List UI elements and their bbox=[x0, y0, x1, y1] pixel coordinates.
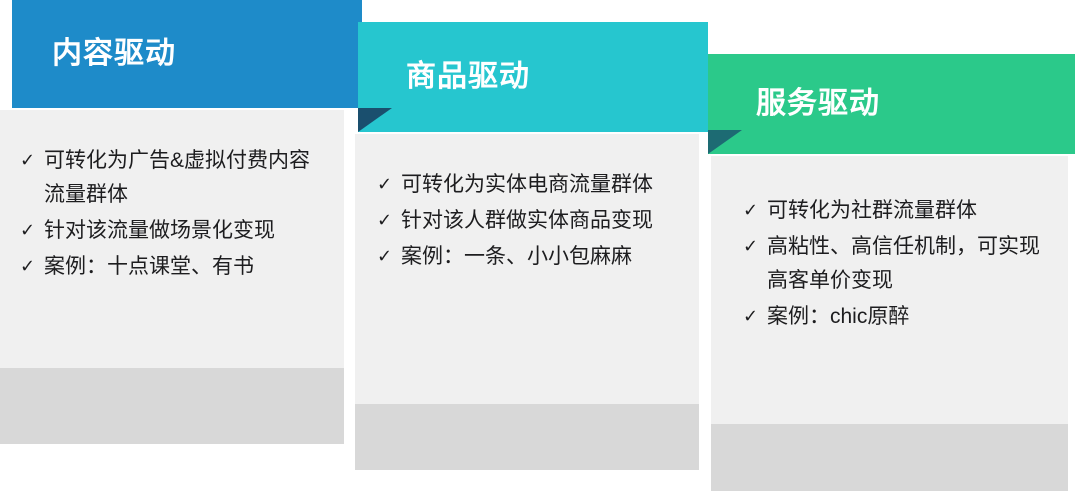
list-item: ✓ 可转化为广告&虚拟付费内容流量群体 bbox=[20, 144, 318, 212]
column-header-content-driven: 内容驱动 bbox=[12, 0, 362, 108]
column-title-product-driven: 商品驱动 bbox=[406, 62, 530, 92]
bullet-text: 可转化为社群流量群体 bbox=[767, 194, 1046, 228]
column-footer-service-driven bbox=[711, 424, 1068, 491]
column-footer-product-driven bbox=[355, 404, 699, 470]
bullet-text: 可转化为广告&虚拟付费内容流量群体 bbox=[44, 144, 318, 212]
check-icon: ✓ bbox=[377, 204, 401, 237]
bullet-text: 高粘性、高信任机制，可实现高客单价变现 bbox=[767, 230, 1046, 298]
list-item: ✓ 可转化为实体电商流量群体 bbox=[377, 168, 677, 202]
list-item: ✓ 高粘性、高信任机制，可实现高客单价变现 bbox=[743, 230, 1046, 298]
check-icon: ✓ bbox=[20, 214, 44, 247]
bullet-text: 案例：chic原醉 bbox=[767, 300, 1046, 334]
header-fold-shadow-service-driven bbox=[708, 130, 742, 154]
bullet-list-content-driven: ✓ 可转化为广告&虚拟付费内容流量群体 ✓ 针对该流量做场景化变现 ✓ 案例：十… bbox=[20, 144, 318, 284]
column-body-product-driven: ✓ 可转化为实体电商流量群体 ✓ 针对该人群做实体商品变现 ✓ 案例：一条、小小… bbox=[355, 134, 699, 404]
check-icon: ✓ bbox=[743, 230, 767, 263]
list-item: ✓ 针对该流量做场景化变现 bbox=[20, 214, 318, 248]
check-icon: ✓ bbox=[20, 250, 44, 283]
check-icon: ✓ bbox=[377, 240, 401, 273]
list-item: ✓ 案例：chic原醉 bbox=[743, 300, 1046, 334]
column-title-content-driven: 内容驱动 bbox=[52, 39, 176, 69]
column-footer-content-driven bbox=[0, 368, 344, 444]
check-icon: ✓ bbox=[743, 194, 767, 227]
column-title-service-driven: 服务驱动 bbox=[756, 89, 880, 119]
column-header-service-driven: 服务驱动 bbox=[708, 54, 1075, 154]
bullet-text: 可转化为实体电商流量群体 bbox=[401, 168, 677, 202]
bullet-list-service-driven: ✓ 可转化为社群流量群体 ✓ 高粘性、高信任机制，可实现高客单价变现 ✓ 案例：… bbox=[743, 194, 1046, 334]
list-item: ✓ 针对该人群做实体商品变现 bbox=[377, 204, 677, 238]
bullet-text: 针对该流量做场景化变现 bbox=[44, 214, 318, 248]
column-header-product-driven: 商品驱动 bbox=[358, 22, 708, 132]
slide-canvas: 内容驱动 ✓ 可转化为广告&虚拟付费内容流量群体 ✓ 针对该流量做场景化变现 ✓… bbox=[0, 0, 1080, 491]
bullet-text: 案例：十点课堂、有书 bbox=[44, 250, 318, 284]
list-item: ✓ 案例：十点课堂、有书 bbox=[20, 250, 318, 284]
bullet-text: 案例：一条、小小包麻麻 bbox=[401, 240, 677, 274]
list-item: ✓ 可转化为社群流量群体 bbox=[743, 194, 1046, 228]
check-icon: ✓ bbox=[20, 144, 44, 177]
header-fold-shadow-product-driven bbox=[358, 108, 392, 132]
check-icon: ✓ bbox=[743, 300, 767, 333]
bullet-list-product-driven: ✓ 可转化为实体电商流量群体 ✓ 针对该人群做实体商品变现 ✓ 案例：一条、小小… bbox=[377, 168, 677, 274]
column-body-content-driven: ✓ 可转化为广告&虚拟付费内容流量群体 ✓ 针对该流量做场景化变现 ✓ 案例：十… bbox=[0, 110, 344, 368]
list-item: ✓ 案例：一条、小小包麻麻 bbox=[377, 240, 677, 274]
column-body-service-driven: ✓ 可转化为社群流量群体 ✓ 高粘性、高信任机制，可实现高客单价变现 ✓ 案例：… bbox=[711, 156, 1068, 424]
check-icon: ✓ bbox=[377, 168, 401, 201]
bullet-text: 针对该人群做实体商品变现 bbox=[401, 204, 677, 238]
